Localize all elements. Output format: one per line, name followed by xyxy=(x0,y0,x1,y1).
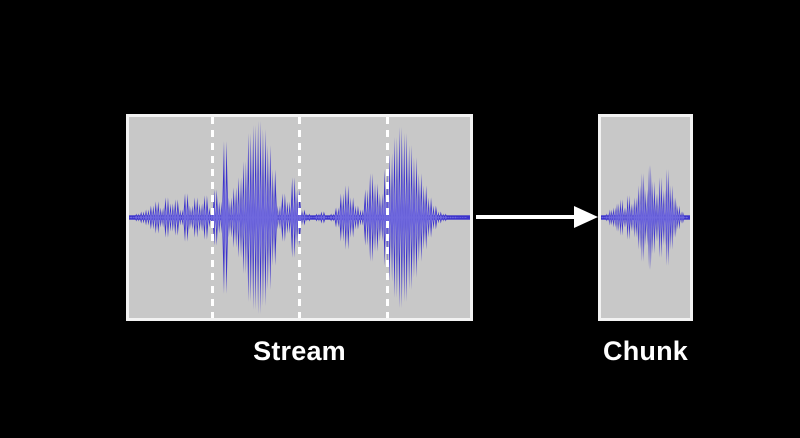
diagram-canvas: Stream Chunk xyxy=(0,0,800,438)
stream-waveform-panel xyxy=(126,114,473,321)
chunk-label: Chunk xyxy=(578,338,713,365)
chunk-boundary-marker xyxy=(298,117,301,318)
chunk-waveform xyxy=(601,117,690,318)
chunk-boundary-marker xyxy=(386,117,389,318)
flow-arrow-icon xyxy=(474,203,600,231)
stream-label: Stream xyxy=(126,338,473,365)
chunk-waveform-panel xyxy=(598,114,693,321)
chunk-boundary-marker xyxy=(211,117,214,318)
